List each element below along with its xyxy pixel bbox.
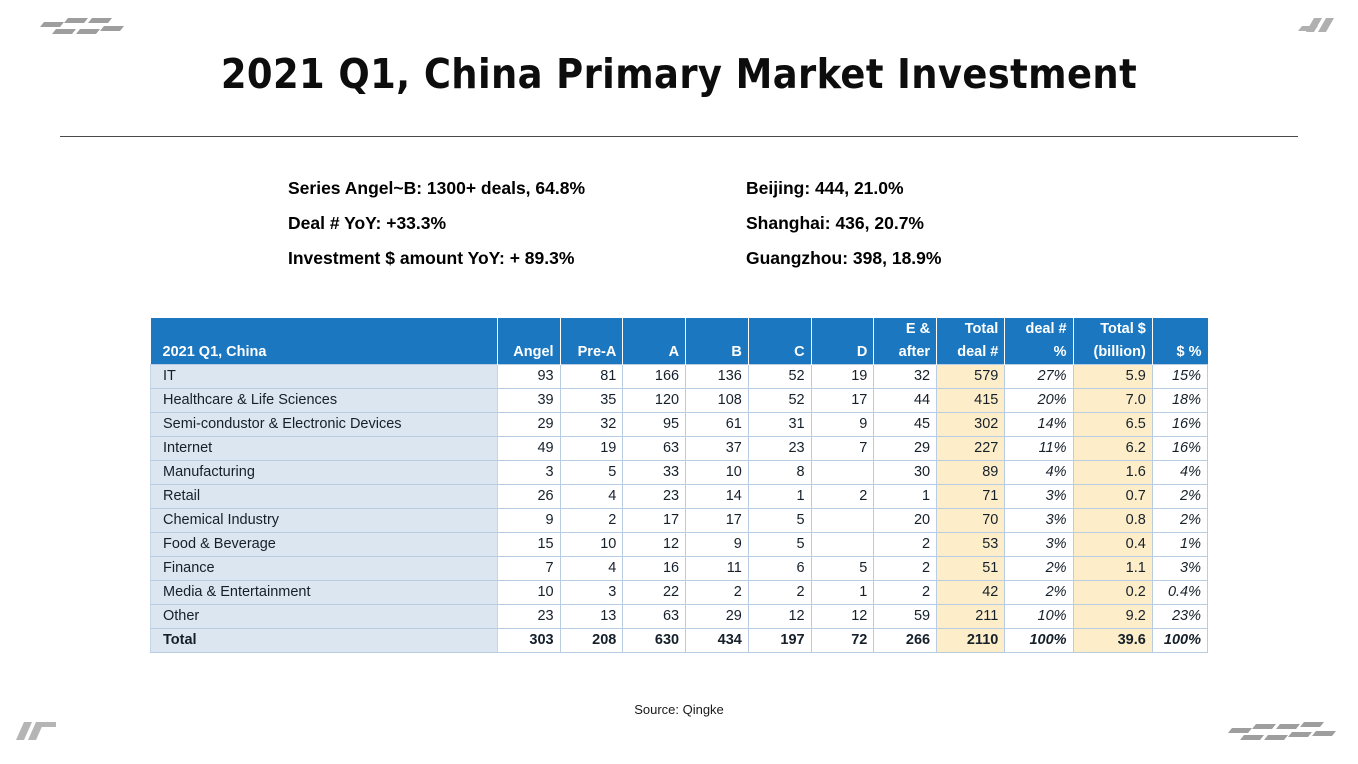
table-cell: 63	[623, 437, 686, 461]
table-cell: 302	[937, 413, 1005, 437]
column-header-category: 2021 Q1, China	[151, 318, 498, 365]
column-header-line1: Total $	[1080, 318, 1146, 341]
table-row: Retail2642314121713%0.72%	[151, 485, 1208, 509]
table-cell: 3%	[1152, 557, 1207, 581]
table-cell: 14	[686, 485, 749, 509]
table-header: 2021 Q1, China Angel Pre-A A B	[151, 318, 1208, 365]
table-cell: 49	[497, 437, 560, 461]
column-header-line1: Total	[943, 318, 998, 341]
row-label: Other	[151, 605, 498, 629]
table-cell: 6.5	[1073, 413, 1152, 437]
key-fact-right-1: Beijing: 444, 21.0%	[746, 178, 904, 199]
row-label: Manufacturing	[151, 461, 498, 485]
table-cell: 16%	[1152, 413, 1207, 437]
column-header-a: A	[623, 318, 686, 365]
table-row: Manufacturing353310830894%1.64%	[151, 461, 1208, 485]
table-cell: 211	[937, 605, 1005, 629]
column-header-line2: Angel	[504, 341, 554, 364]
table-cell: 26	[497, 485, 560, 509]
table-cell: 2%	[1152, 509, 1207, 533]
table-cell: 434	[686, 629, 749, 653]
table-cell: 23%	[1152, 605, 1207, 629]
table-cell: 3%	[1005, 485, 1073, 509]
table-cell: 71	[937, 485, 1005, 509]
table-cell: 12	[623, 533, 686, 557]
row-label: Chemical Industry	[151, 509, 498, 533]
table-cell: 7	[811, 437, 874, 461]
table-cell: 0.4	[1073, 533, 1152, 557]
table-cell: 8	[748, 461, 811, 485]
table-cell: 3	[560, 581, 623, 605]
table-row: Semi-condustor & Electronic Devices29329…	[151, 413, 1208, 437]
table-cell: 17	[811, 389, 874, 413]
table-cell: 3	[497, 461, 560, 485]
table-cell: 23	[748, 437, 811, 461]
table-row: Food & Beverage151012952533%0.41%	[151, 533, 1208, 557]
column-header-line2: D	[818, 341, 868, 364]
table-cell: 2%	[1005, 581, 1073, 605]
table-cell: 2%	[1152, 485, 1207, 509]
table-cell: 29	[874, 437, 937, 461]
table-cell: 39.6	[1073, 629, 1152, 653]
table-cell: 100%	[1152, 629, 1207, 653]
table-cell: 579	[937, 365, 1005, 389]
column-header-line2: after	[880, 341, 930, 364]
table-cell: 2	[560, 509, 623, 533]
column-header-total-dollars-billion: Total $ (billion)	[1073, 318, 1152, 365]
table-cell: 13	[560, 605, 623, 629]
table-cell: 37	[686, 437, 749, 461]
row-label: Retail	[151, 485, 498, 509]
table-cell: 415	[937, 389, 1005, 413]
table-header-row: 2021 Q1, China Angel Pre-A A B	[151, 318, 1208, 365]
table-cell: 52	[748, 389, 811, 413]
row-label: Healthcare & Life Sciences	[151, 389, 498, 413]
table-cell: 3%	[1005, 509, 1073, 533]
key-fact-row: Series Angel~B: 1300+ deals, 64.8% Beiji…	[288, 178, 1288, 213]
table-cell: 1	[874, 485, 937, 509]
table-cell: 0.2	[1073, 581, 1152, 605]
table-cell: 19	[560, 437, 623, 461]
table-cell: 12	[748, 605, 811, 629]
table-cell: 1	[811, 581, 874, 605]
title-divider	[60, 136, 1298, 137]
key-fact-right-2: Shanghai: 436, 20.7%	[746, 213, 924, 234]
table-cell: 4	[560, 557, 623, 581]
column-header-line2: %	[1011, 341, 1066, 364]
table-cell: 0.7	[1073, 485, 1152, 509]
table-cell: 89	[937, 461, 1005, 485]
table-cell: 227	[937, 437, 1005, 461]
column-header-line2: B	[692, 341, 742, 364]
table-row: Finance741611652512%1.13%	[151, 557, 1208, 581]
table-cell: 2%	[1005, 557, 1073, 581]
table-total-row: Total303208630434197722662110100%39.6100…	[151, 629, 1208, 653]
table-cell: 5	[560, 461, 623, 485]
row-label: Food & Beverage	[151, 533, 498, 557]
table-cell: 0.4%	[1152, 581, 1207, 605]
column-header-e-and-after: E & after	[874, 318, 937, 365]
table-cell: 45	[874, 413, 937, 437]
table-cell: 31	[748, 413, 811, 437]
table-cell: 95	[623, 413, 686, 437]
table-cell: 32	[874, 365, 937, 389]
table-cell: 108	[686, 389, 749, 413]
column-header-dollar-percent: $ %	[1152, 318, 1207, 365]
column-header-deal-percent: deal # %	[1005, 318, 1073, 365]
table-cell: 11%	[1005, 437, 1073, 461]
table-cell: 15%	[1152, 365, 1207, 389]
table-row: Other2313632912125921110%9.223%	[151, 605, 1208, 629]
table-cell: 35	[560, 389, 623, 413]
table-cell: 12	[811, 605, 874, 629]
table-cell: 51	[937, 557, 1005, 581]
table-cell: 11	[686, 557, 749, 581]
table-cell: 23	[497, 605, 560, 629]
table-cell: 5	[748, 533, 811, 557]
column-header-total-deal-count: Total deal #	[937, 318, 1005, 365]
key-fact-left-3: Investment $ amount YoY: + 89.3%	[288, 248, 746, 269]
table-cell: 17	[686, 509, 749, 533]
table-cell	[811, 509, 874, 533]
table-cell: 1.1	[1073, 557, 1152, 581]
table-cell: 27%	[1005, 365, 1073, 389]
table-cell: 93	[497, 365, 560, 389]
table-row: Healthcare & Life Sciences39351201085217…	[151, 389, 1208, 413]
row-label: IT	[151, 365, 498, 389]
table-cell: 9	[497, 509, 560, 533]
column-header-b: B	[686, 318, 749, 365]
table-row: IT938116613652193257927%5.915%	[151, 365, 1208, 389]
row-label: Finance	[151, 557, 498, 581]
row-label: Semi-condustor & Electronic Devices	[151, 413, 498, 437]
table-cell: 29	[686, 605, 749, 629]
table-cell: 166	[623, 365, 686, 389]
table-cell: 2	[811, 485, 874, 509]
table-cell: 630	[623, 629, 686, 653]
decoration-bottom-left	[14, 718, 60, 744]
decoration-bottom-right	[1226, 720, 1344, 744]
table-cell: 16%	[1152, 437, 1207, 461]
table-cell: 303	[497, 629, 560, 653]
table-cell: 59	[874, 605, 937, 629]
table-cell: 19	[811, 365, 874, 389]
table-cell: 53	[937, 533, 1005, 557]
table-cell: 70	[937, 509, 1005, 533]
column-header-line2: A	[629, 341, 679, 364]
table-cell: 3%	[1005, 533, 1073, 557]
table-cell: 16	[623, 557, 686, 581]
column-header-angel: Angel	[497, 318, 560, 365]
table-cell: 208	[560, 629, 623, 653]
source-note: Source: Qingke	[0, 702, 1358, 717]
column-header-line2: 2021 Q1, China	[163, 341, 491, 364]
table-cell: 5	[811, 557, 874, 581]
table-row: Media & Entertainment103222212422%0.20.4…	[151, 581, 1208, 605]
table-cell: 100%	[1005, 629, 1073, 653]
table-cell: 6.2	[1073, 437, 1152, 461]
table-cell: 2110	[937, 629, 1005, 653]
table-row: Chemical Industry921717520703%0.82%	[151, 509, 1208, 533]
table-cell: 14%	[1005, 413, 1073, 437]
column-header-line2: $ %	[1159, 341, 1202, 364]
table-cell: 10	[686, 461, 749, 485]
column-header-d: D	[811, 318, 874, 365]
table-cell: 2	[874, 533, 937, 557]
table-cell: 29	[497, 413, 560, 437]
table-cell: 5.9	[1073, 365, 1152, 389]
key-fact-row: Deal # YoY: +33.3% Shanghai: 436, 20.7%	[288, 213, 1288, 248]
table-body: IT938116613652193257927%5.915%Healthcare…	[151, 365, 1208, 653]
table-cell: 4	[560, 485, 623, 509]
table-cell: 197	[748, 629, 811, 653]
row-label: Internet	[151, 437, 498, 461]
table-cell: 1%	[1152, 533, 1207, 557]
table-cell: 42	[937, 581, 1005, 605]
table-cell: 2	[874, 581, 937, 605]
table-cell: 9	[811, 413, 874, 437]
key-fact-row: Investment $ amount YoY: + 89.3% Guangzh…	[288, 248, 1288, 283]
table-cell: 39	[497, 389, 560, 413]
table-cell: 2	[748, 581, 811, 605]
table-cell: 136	[686, 365, 749, 389]
key-fact-right-3: Guangzhou: 398, 18.9%	[746, 248, 941, 269]
decoration-top-left	[38, 14, 124, 38]
table-cell: 266	[874, 629, 937, 653]
column-header-line1: deal #	[1011, 318, 1066, 341]
table-cell: 30	[874, 461, 937, 485]
table-row: Internet491963372372922711%6.216%	[151, 437, 1208, 461]
key-fact-left-1: Series Angel~B: 1300+ deals, 64.8%	[288, 178, 746, 199]
table-cell: 10	[560, 533, 623, 557]
table-cell: 1	[748, 485, 811, 509]
table-cell	[811, 533, 874, 557]
row-label: Total	[151, 629, 498, 653]
column-header-c: C	[748, 318, 811, 365]
column-header-line2: Pre-A	[567, 341, 617, 364]
column-header-line2: (billion)	[1080, 341, 1146, 364]
column-header-line2: deal #	[943, 341, 998, 364]
table-cell: 23	[623, 485, 686, 509]
table-cell: 20	[874, 509, 937, 533]
table-cell: 7.0	[1073, 389, 1152, 413]
key-fact-left-2: Deal # YoY: +33.3%	[288, 213, 746, 234]
row-label: Media & Entertainment	[151, 581, 498, 605]
table-cell: 4%	[1005, 461, 1073, 485]
table-cell: 63	[623, 605, 686, 629]
table-cell: 2	[874, 557, 937, 581]
table-cell: 10	[497, 581, 560, 605]
table-cell: 81	[560, 365, 623, 389]
page-title: 2021 Q1, China Primary Market Investment	[0, 50, 1358, 98]
table-cell: 120	[623, 389, 686, 413]
table-cell: 33	[623, 461, 686, 485]
table-cell: 7	[497, 557, 560, 581]
table-cell: 9.2	[1073, 605, 1152, 629]
table-cell: 2	[686, 581, 749, 605]
key-facts-block: Series Angel~B: 1300+ deals, 64.8% Beiji…	[288, 178, 1288, 283]
table-cell	[811, 461, 874, 485]
column-header-pre-a: Pre-A	[560, 318, 623, 365]
table-cell: 4%	[1152, 461, 1207, 485]
table-cell: 15	[497, 533, 560, 557]
table-cell: 61	[686, 413, 749, 437]
table-cell: 1.6	[1073, 461, 1152, 485]
table-cell: 0.8	[1073, 509, 1152, 533]
table-cell: 52	[748, 365, 811, 389]
table-cell: 17	[623, 509, 686, 533]
table-cell: 22	[623, 581, 686, 605]
investment-table-container: 2021 Q1, China Angel Pre-A A B	[150, 318, 1208, 653]
table-cell: 6	[748, 557, 811, 581]
table-cell: 9	[686, 533, 749, 557]
table-cell: 18%	[1152, 389, 1207, 413]
column-header-line2: C	[755, 341, 805, 364]
table-cell: 32	[560, 413, 623, 437]
table-cell: 72	[811, 629, 874, 653]
investment-table: 2021 Q1, China Angel Pre-A A B	[150, 318, 1208, 653]
table-cell: 20%	[1005, 389, 1073, 413]
table-cell: 5	[748, 509, 811, 533]
table-cell: 44	[874, 389, 937, 413]
table-cell: 10%	[1005, 605, 1073, 629]
column-header-line1: E &	[880, 318, 930, 341]
decoration-top-right	[1296, 14, 1358, 38]
